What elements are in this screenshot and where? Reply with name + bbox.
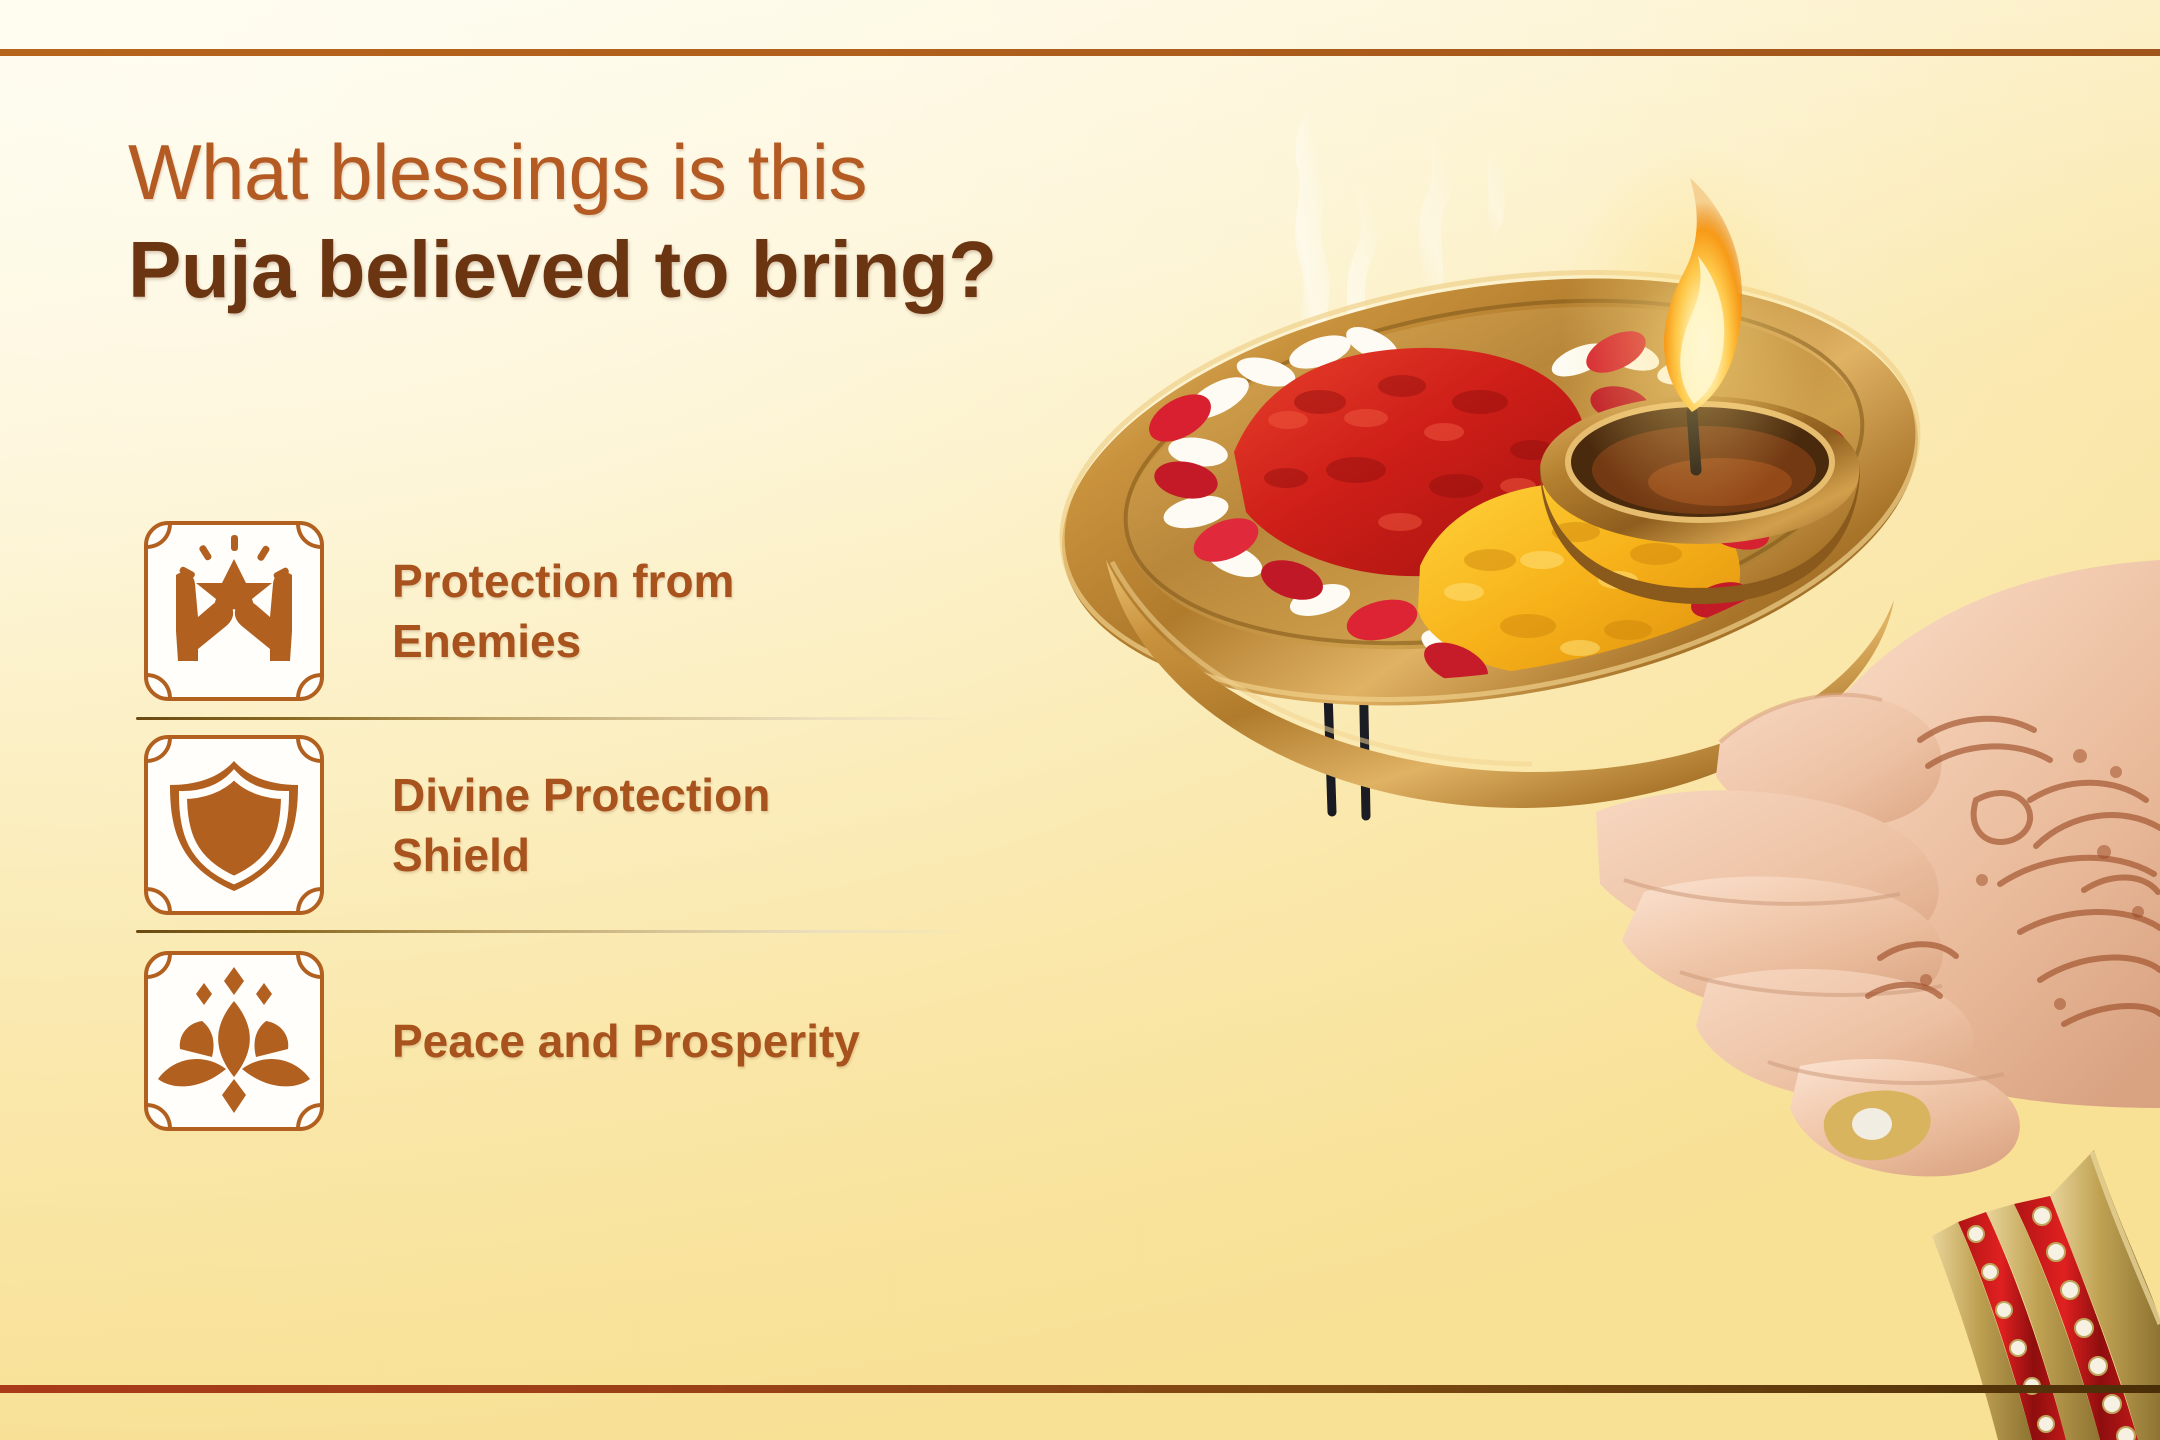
jasmine-petals <box>1161 320 1752 669</box>
shield-icon <box>136 727 332 923</box>
list-item[interactable]: Divine Protection Shield <box>136 720 976 930</box>
henna-pattern <box>1868 719 2160 1024</box>
diya-flame <box>1562 140 1822 520</box>
list-item-label-line-2: Enemies <box>392 611 734 671</box>
promo-card: What blessings is this Puja believed to … <box>0 0 2160 1440</box>
list-item[interactable]: Protection from Enemies <box>136 505 976 717</box>
turmeric-powder <box>1418 482 1740 677</box>
bottom-divider-rule <box>0 1385 2160 1393</box>
list-item-label: Protection from Enemies <box>392 551 734 671</box>
list-item-label-line-1: Peace and Prosperity <box>392 1011 860 1071</box>
rose-petals <box>1141 323 1848 695</box>
list-item-label-line-2: Shield <box>392 825 770 885</box>
gold-ring <box>1824 1091 1931 1161</box>
lotus-icon <box>136 943 332 1139</box>
henna-hand <box>1596 560 2160 1176</box>
page-title: What blessings is this Puja believed to … <box>128 126 997 318</box>
headline-line-2: Puja believed to bring? <box>128 222 997 318</box>
list-item-label: Divine Protection Shield <box>392 765 770 885</box>
kumkum-powder <box>1234 348 1587 576</box>
list-item-label-line-1: Protection from <box>392 551 734 611</box>
red-gold-bangles <box>1932 1150 2160 1440</box>
diya-lamp <box>1540 396 1860 604</box>
incense-sticks <box>1318 392 1366 816</box>
list-item-label-line-1: Divine Protection <box>392 765 770 825</box>
henna-dots <box>1920 749 2144 1010</box>
puja-thali-photo <box>1020 0 2160 1440</box>
hands-with-star-icon <box>136 513 332 709</box>
list-item-label: Peace and Prosperity <box>392 1011 860 1071</box>
headline-line-1: What blessings is this <box>128 126 997 218</box>
top-divider-rule <box>0 49 2160 56</box>
incense-smoke <box>1308 108 1502 378</box>
puja-thali <box>1031 216 1949 808</box>
blessings-list: Protection from Enemies Divine Protecti <box>136 505 976 1148</box>
list-item[interactable]: Peace and Prosperity <box>136 933 976 1148</box>
